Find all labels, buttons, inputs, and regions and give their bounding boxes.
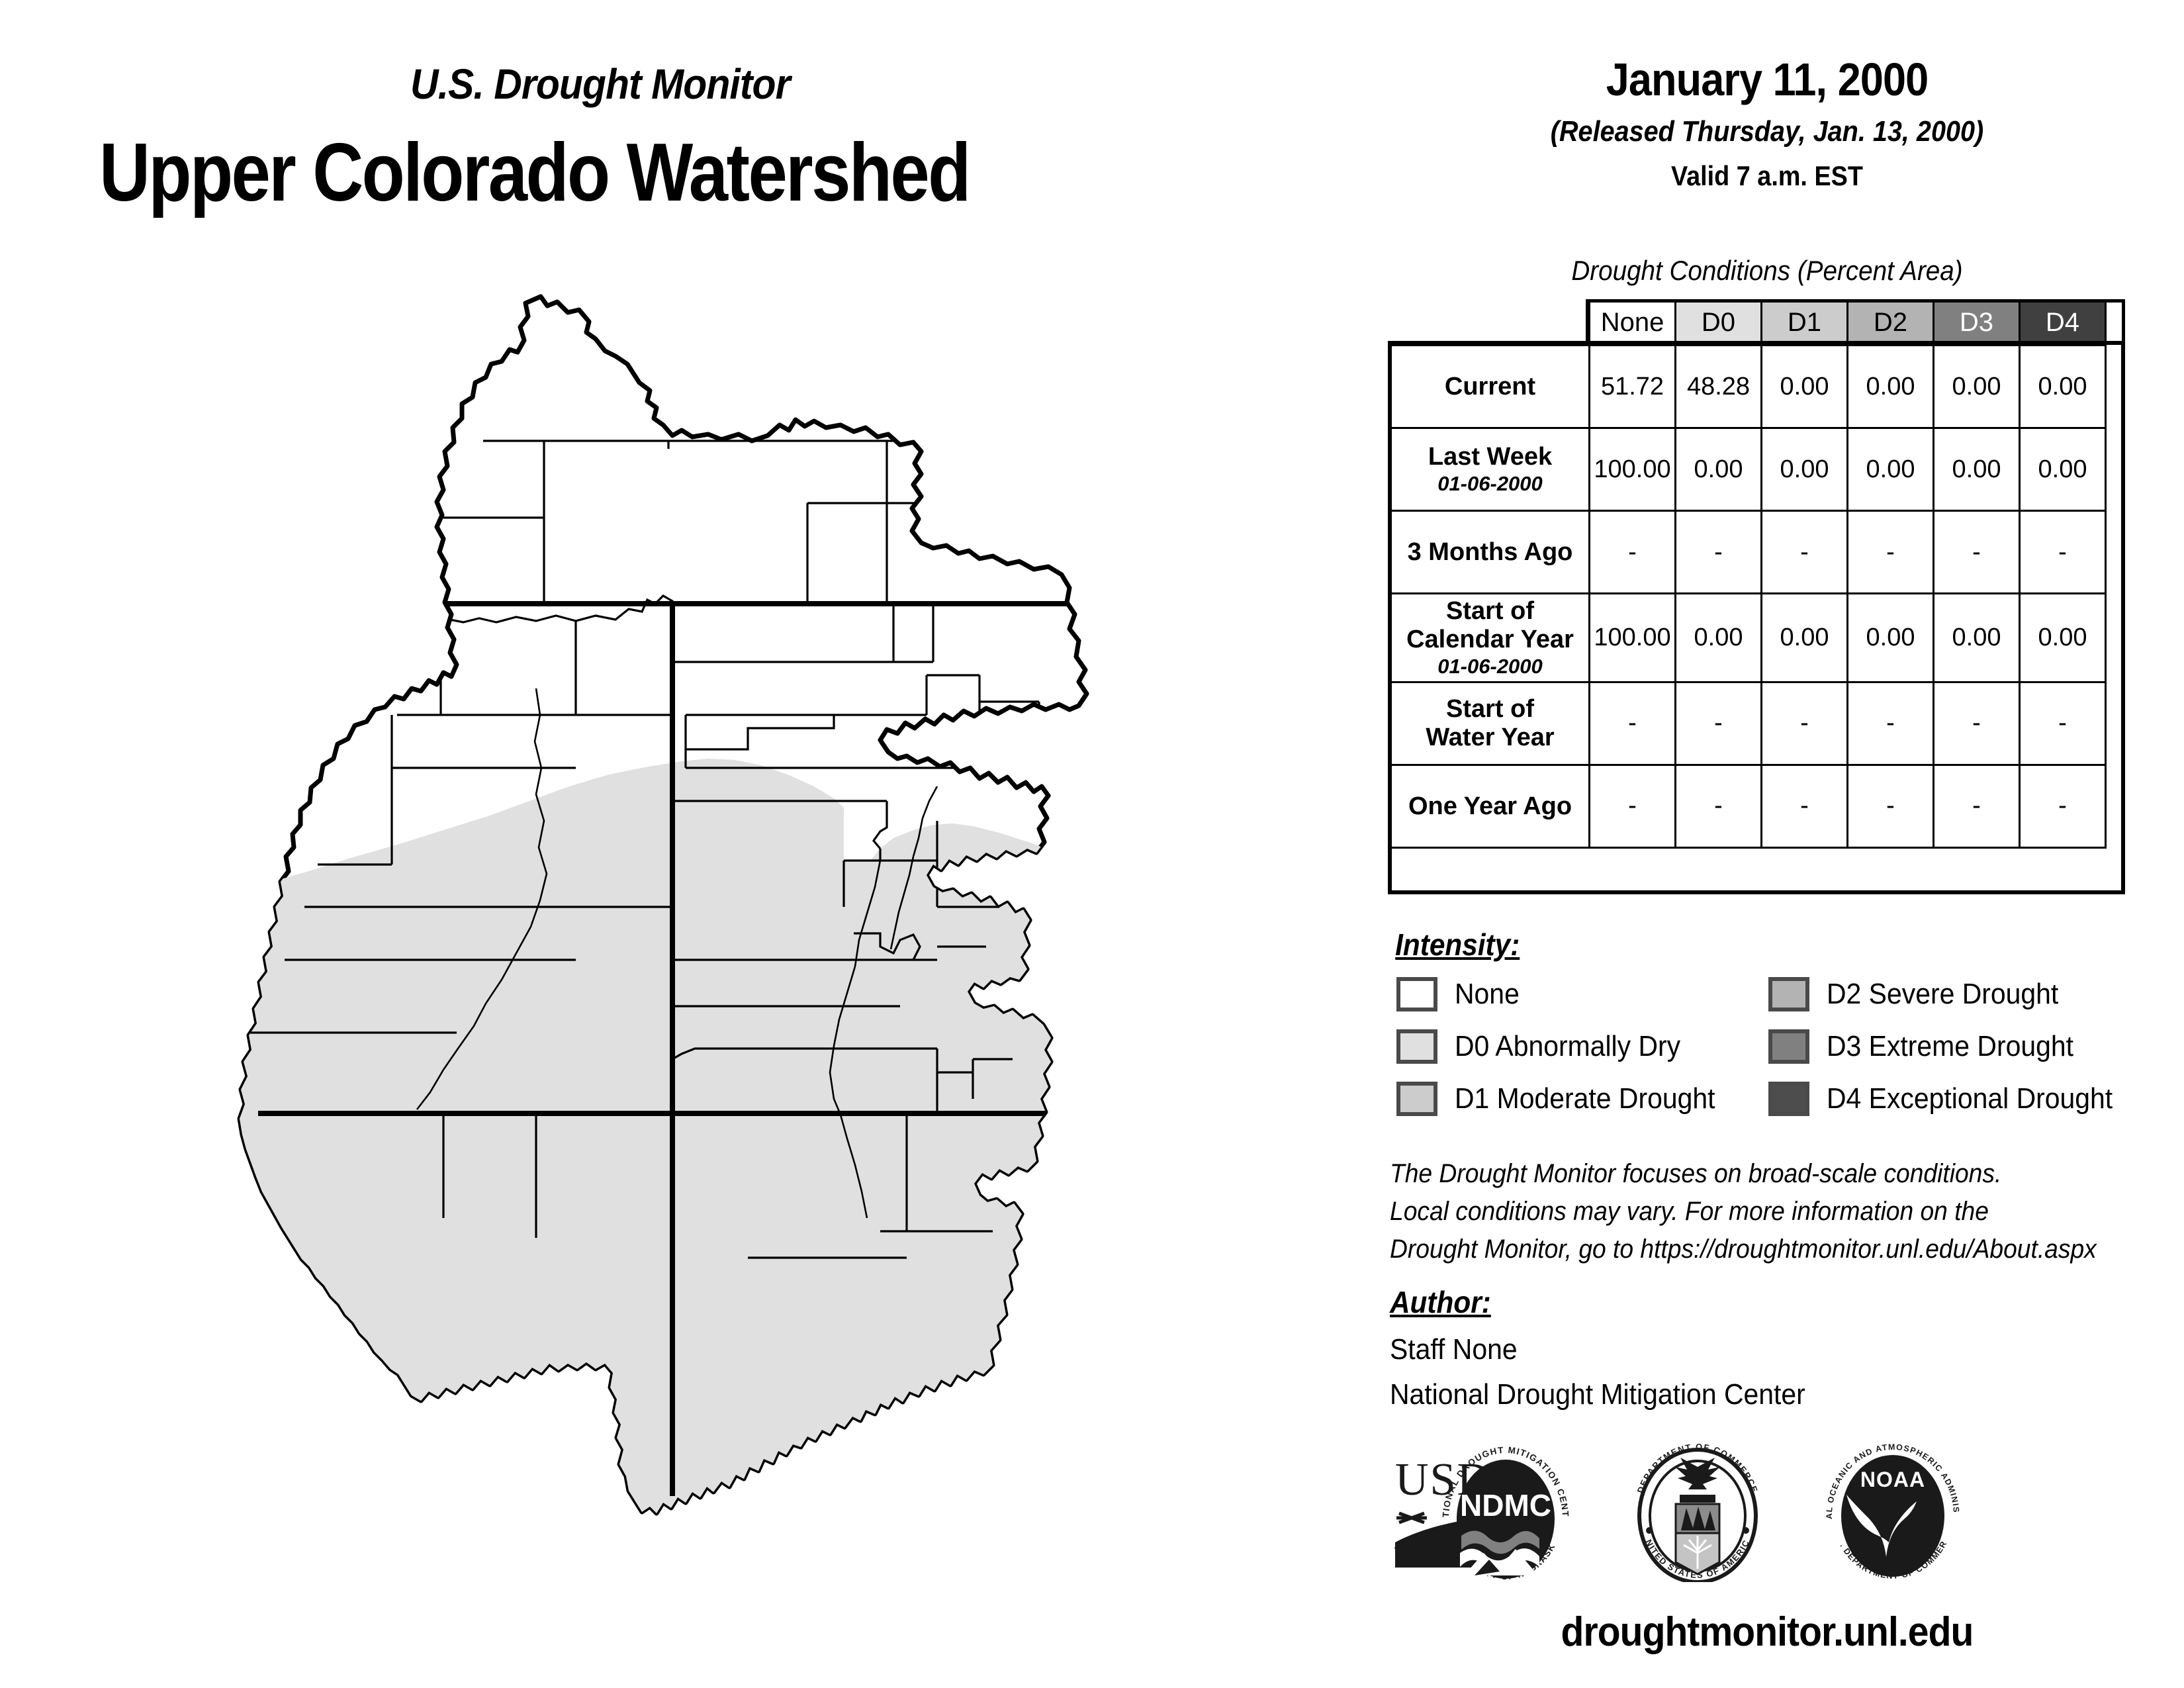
svg-text:NOAA: NOAA: [1860, 1468, 1925, 1491]
row-label-subdate: 01-06-2000: [1396, 655, 1584, 679]
table-row: Last Week 01-06-2000 100.00 0.00 0.00 0.…: [1391, 428, 2106, 511]
legend-item-d2: D2 Severe Drought: [1768, 977, 2076, 1011]
legend-label-d0: D0 Abnormally Dry: [1455, 1030, 1680, 1063]
cell-lastweek-none: 100.00: [1590, 428, 1676, 511]
cell-swy-d2: -: [1848, 682, 1934, 765]
cell-1yr-d3: -: [1934, 765, 2020, 847]
column-header-d0: D0: [1676, 301, 1762, 346]
cell-1yr-d0: -: [1676, 765, 1762, 847]
legend-item-none: None: [1396, 977, 1524, 1011]
cell-1yr-none: -: [1590, 765, 1676, 847]
legend-item-d3: D3 Extreme Drought: [1768, 1029, 2092, 1064]
column-header-d1: D1: [1762, 301, 1848, 346]
cell-3mo-d0: -: [1676, 511, 1762, 594]
disclaimer-text: The Drought Monitor focuses on broad-sca…: [1390, 1155, 2097, 1268]
legend-swatch-none: [1396, 977, 1437, 1011]
row-label-text: Start ofWater Year: [1426, 695, 1554, 751]
disclaimer-line-3: Drought Monitor, go to https://droughtmo…: [1390, 1231, 2097, 1268]
legend-item-d1: D1 Moderate Drought: [1396, 1082, 1735, 1116]
d0-drought-area: [218, 759, 1158, 1642]
report-date: January 11, 2000: [1416, 53, 2118, 106]
cell-swy-d4: -: [2020, 682, 2106, 765]
legend-swatch-d2: [1768, 977, 1809, 1011]
column-header-d4: D4: [2020, 301, 2106, 346]
legend-swatch-d1: [1396, 1082, 1437, 1116]
legend-label-d4: D4 Exceptional Drought: [1827, 1082, 2113, 1115]
row-label-text: Current: [1445, 373, 1535, 400]
cell-3mo-d1: -: [1762, 511, 1848, 594]
legend-swatch-d4: [1768, 1082, 1809, 1116]
row-label-text: 3 Months Ago: [1408, 538, 1573, 566]
program-title: U.S. Drought Monitor: [410, 60, 790, 109]
cell-current-d4: 0.00: [2020, 346, 2106, 428]
cell-1yr-d2: -: [1848, 765, 1934, 847]
cell-3mo-d3: -: [1934, 511, 2020, 594]
cell-current-d2: 0.00: [1848, 346, 1934, 428]
cell-scy-d3: 0.00: [1934, 594, 2020, 682]
cell-lastweek-d3: 0.00: [1934, 428, 2020, 511]
column-header-d3: D3: [1934, 301, 2020, 346]
table-row: Start ofWater Year - - - - - -: [1391, 682, 2106, 765]
site-url: droughtmonitor.unl.edu: [1408, 1609, 2126, 1656]
header-corner-blank: [1391, 301, 1590, 346]
d0-polygon: [218, 759, 1158, 1642]
author-heading: Author:: [1390, 1284, 1491, 1320]
cell-swy-d3: -: [1934, 682, 2020, 765]
legend-swatch-d0: [1396, 1029, 1437, 1064]
table-header-row: None D0 D1 D2 D3 D4: [1391, 301, 2106, 346]
cell-lastweek-d2: 0.00: [1848, 428, 1934, 511]
row-label-one-year-ago: One Year Ago: [1391, 765, 1590, 847]
legend-item-d0: D0 Abnormally Dry: [1396, 1029, 1698, 1064]
cell-swy-none: -: [1590, 682, 1676, 765]
row-label-current: Current: [1391, 346, 1590, 428]
page-title: Upper Colorado Watershed: [99, 126, 970, 220]
cell-current-none: 51.72: [1590, 346, 1676, 428]
legend-swatch-d3: [1768, 1029, 1809, 1064]
cell-swy-d1: -: [1762, 682, 1848, 765]
row-label-last-week: Last Week 01-06-2000: [1391, 428, 1590, 511]
cell-3mo-none: -: [1590, 511, 1676, 594]
release-date: (Released Thursday, Jan. 13, 2000): [1416, 115, 2118, 148]
drought-conditions-table: None D0 D1 D2 D3 D4 Current 51.72 48.28 …: [1390, 299, 2107, 849]
table-row: One Year Ago - - - - - -: [1391, 765, 2106, 847]
legend-label-d3: D3 Extreme Drought: [1827, 1030, 2073, 1063]
cell-scy-d2: 0.00: [1848, 594, 1934, 682]
intensity-heading: Intensity:: [1395, 927, 1520, 962]
valid-time: Valid 7 a.m. EST: [1416, 160, 2118, 192]
column-header-none: None: [1590, 301, 1676, 346]
row-label-subdate: 01-06-2000: [1396, 473, 1584, 496]
legend-label-none: None: [1455, 978, 1520, 1011]
table-row: Start ofCalendar Year 01-06-2000 100.00 …: [1391, 594, 2106, 682]
cell-3mo-d2: -: [1848, 511, 1934, 594]
row-label-text: Last Week: [1428, 443, 1552, 471]
cell-current-d0: 48.28: [1676, 346, 1762, 428]
disclaimer-line-1: The Drought Monitor focuses on broad-sca…: [1390, 1155, 2097, 1193]
cell-scy-d4: 0.00: [2020, 594, 2106, 682]
cell-1yr-d4: -: [2020, 765, 2106, 847]
column-header-d2: D2: [1848, 301, 1934, 346]
table-row: 3 Months Ago - - - - - -: [1391, 511, 2106, 594]
cell-scy-d0: 0.00: [1676, 594, 1762, 682]
row-label-text: One Year Ago: [1408, 792, 1572, 820]
date-block: January 11, 2000 (Released Thursday, Jan…: [1377, 53, 2158, 192]
cell-lastweek-d4: 0.00: [2020, 428, 2106, 511]
disclaimer-line-2: Local conditions may vary. For more info…: [1390, 1193, 2097, 1231]
cell-scy-d1: 0.00: [1762, 594, 1848, 682]
table-row: Current 51.72 48.28 0.00 0.00 0.00 0.00: [1391, 346, 2106, 428]
map-svg: [218, 278, 1158, 1642]
row-label-text: Start ofCalendar Year: [1406, 597, 1574, 653]
logo-row-svg: USDA NATIONAL DROUGHT MITIGATION CENTER …: [1390, 1443, 2118, 1582]
legend-label-d2: D2 Severe Drought: [1827, 978, 2058, 1011]
cell-current-d1: 0.00: [1762, 346, 1848, 428]
author-name: Staff None: [1390, 1327, 1805, 1372]
row-label-start-water-year: Start ofWater Year: [1391, 682, 1590, 765]
drought-map: [218, 278, 1158, 1642]
cell-lastweek-d0: 0.00: [1676, 428, 1762, 511]
legend-label-d1: D1 Moderate Drought: [1455, 1082, 1715, 1115]
row-label-3-months-ago: 3 Months Ago: [1391, 511, 1590, 594]
cell-current-d3: 0.00: [1934, 346, 2020, 428]
table-caption: Drought Conditions (Percent Area): [1408, 255, 2126, 287]
legend-item-d4: D4 Exceptional Drought: [1768, 1082, 2134, 1116]
author-block: Staff None National Drought Mitigation C…: [1390, 1327, 1805, 1417]
author-organization: National Drought Mitigation Center: [1390, 1372, 1805, 1417]
svg-text:NDMC: NDMC: [1460, 1488, 1551, 1523]
cell-swy-d0: -: [1676, 682, 1762, 765]
cell-3mo-d4: -: [2020, 511, 2106, 594]
cell-1yr-d1: -: [1762, 765, 1848, 847]
row-label-start-calendar-year: Start ofCalendar Year 01-06-2000: [1391, 594, 1590, 682]
logo-row: USDA NATIONAL DROUGHT MITIGATION CENTER …: [1390, 1443, 2118, 1582]
cell-scy-none: 100.00: [1590, 594, 1676, 682]
cell-lastweek-d1: 0.00: [1762, 428, 1848, 511]
